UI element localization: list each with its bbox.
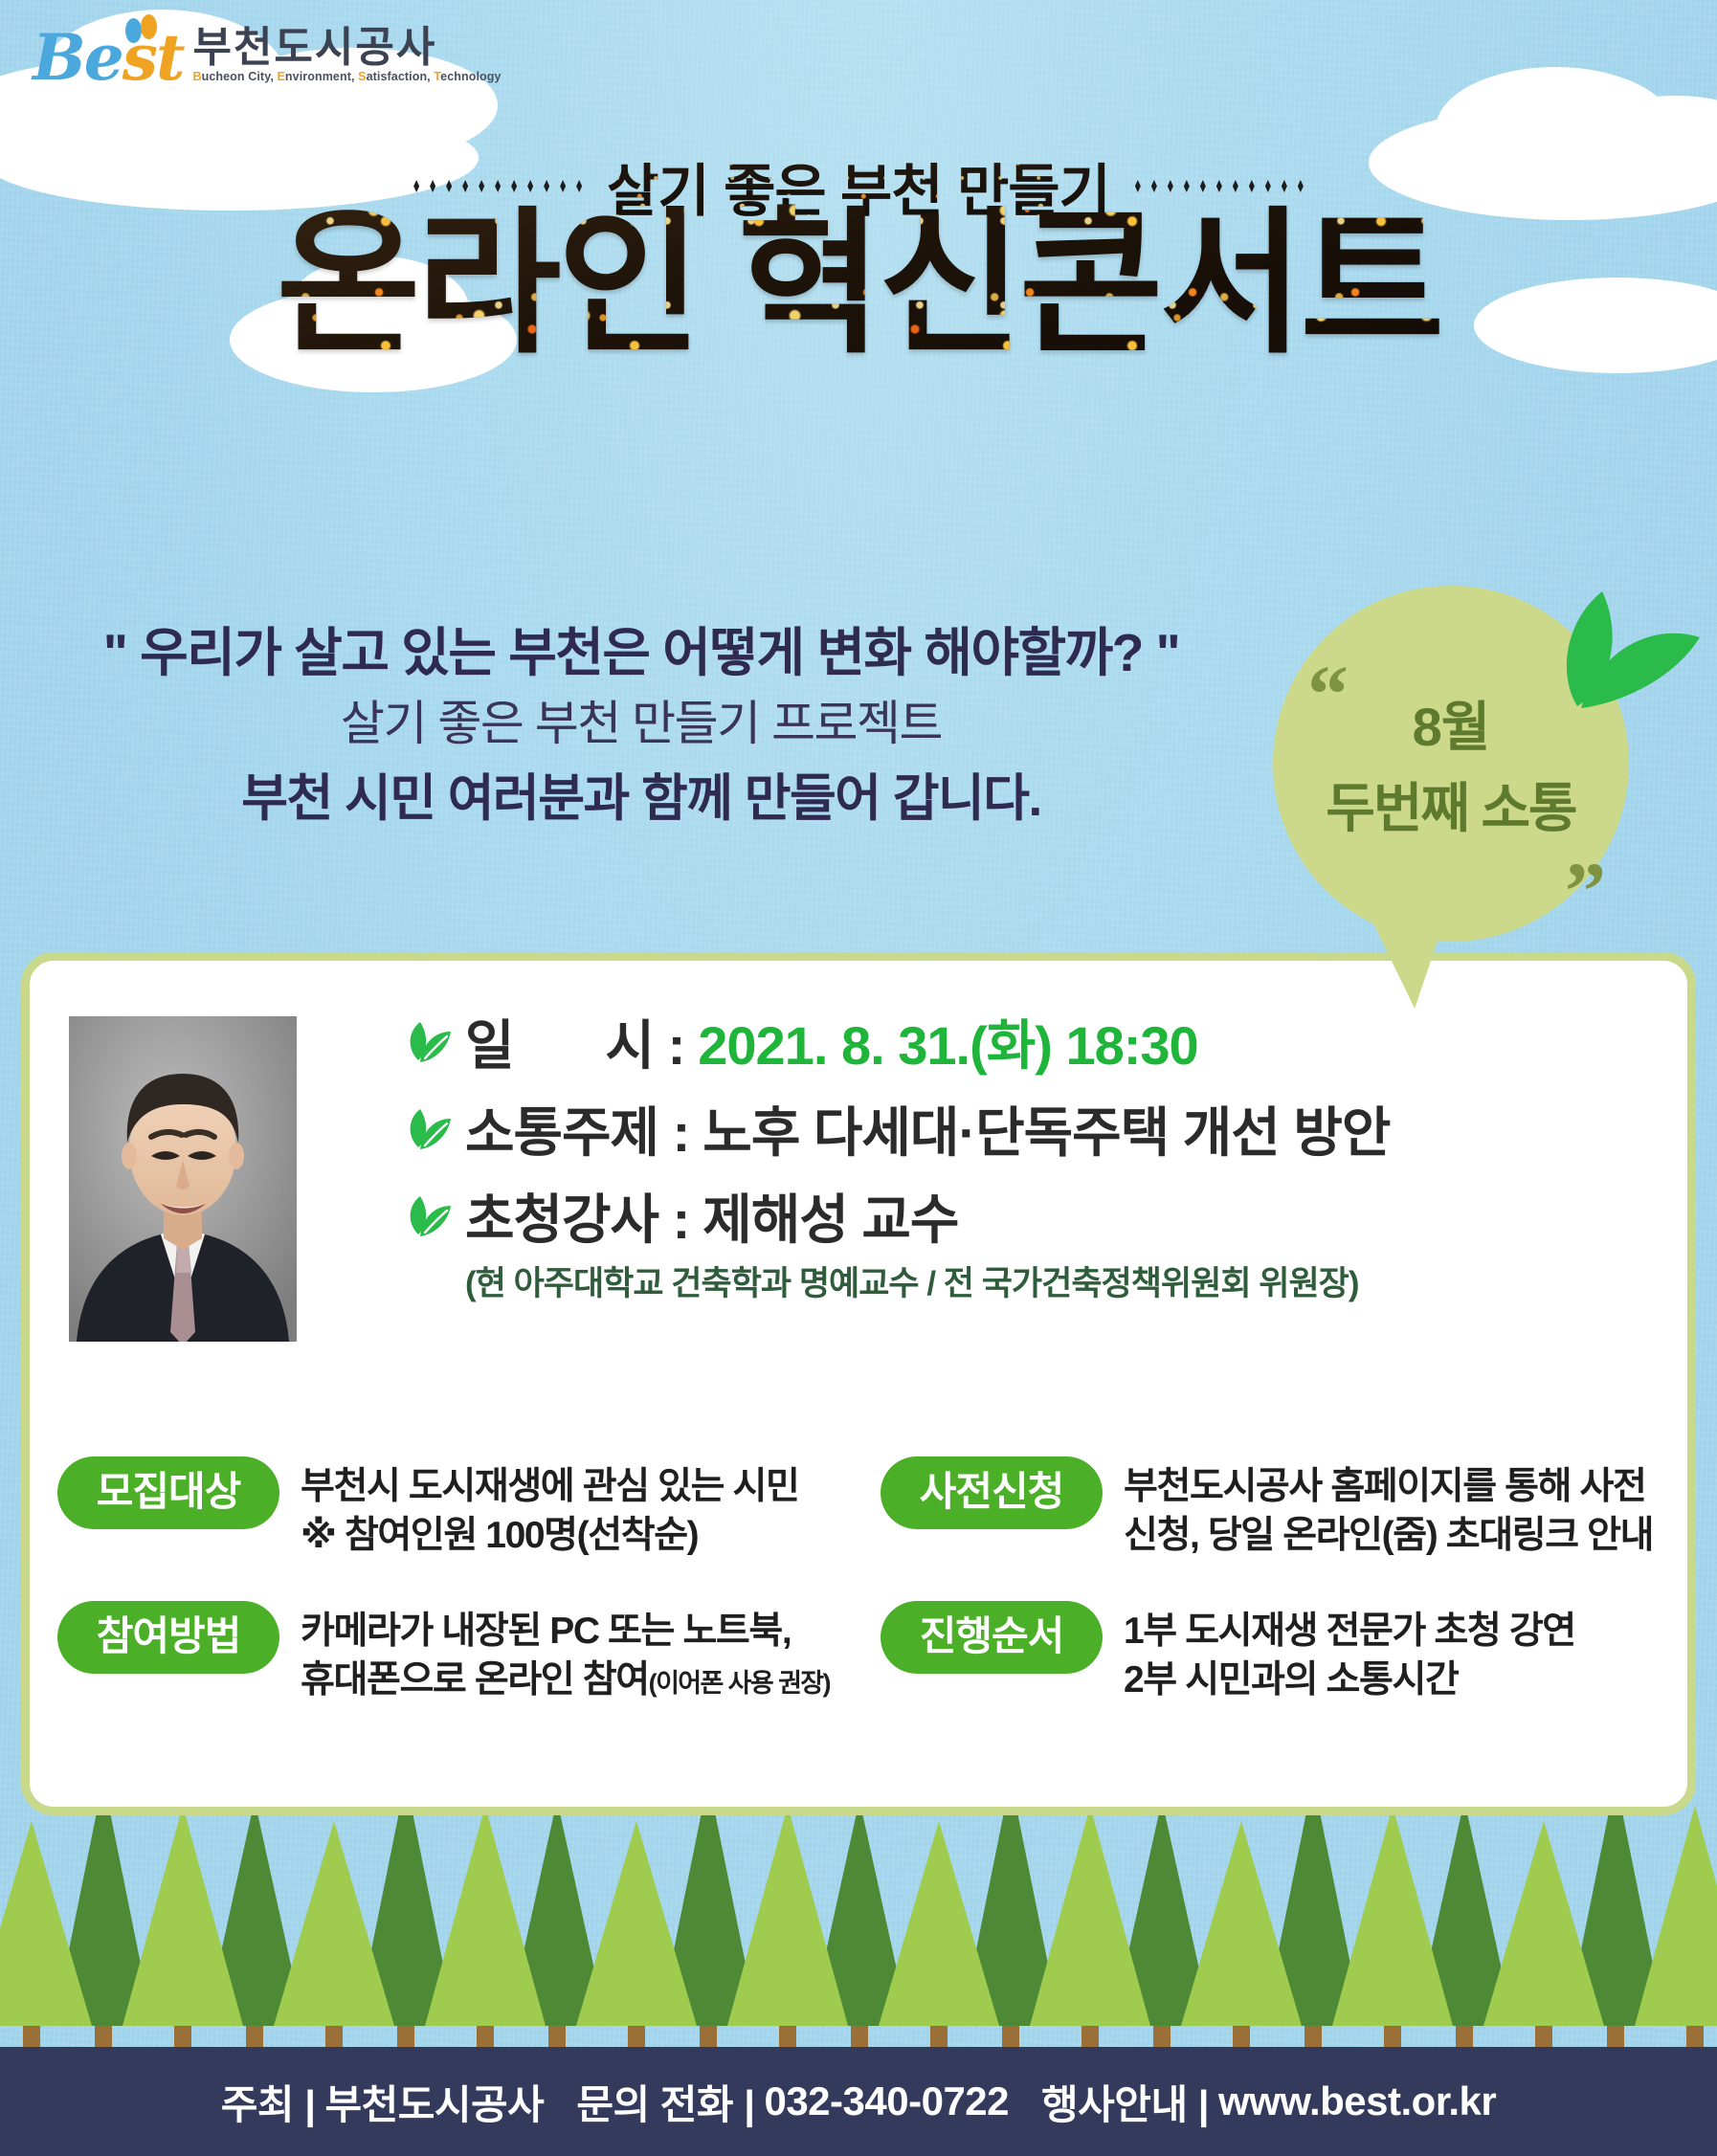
info-line: 카메라가 내장된 PC 또는 노트북, xyxy=(301,1607,830,1656)
info-pill-program: 진행순서 xyxy=(881,1601,1103,1674)
tree-crown xyxy=(576,1821,697,2026)
info-line: 휴대폰으로 온라인 참여(이어폰 사용 권장) xyxy=(301,1656,830,1704)
footer-website: www.best.or.kr xyxy=(1218,2078,1496,2124)
event-details: 일시 : 2021. 8. 31.(화) 18:30 소통주제 : 노후 다세대… xyxy=(402,1003,1390,1305)
info-line: 부천도시공사 홈페이지를 통해 사전 xyxy=(1124,1462,1653,1511)
leaf-decoration-icon xyxy=(1522,584,1704,727)
footer-host-value: 부천도시공사 xyxy=(324,2073,544,2131)
leaf-icon xyxy=(402,1194,452,1238)
info-text-registration: 부천도시공사 홈페이지를 통해 사전 신청, 당일 온라인(줌) 초대링크 안내 xyxy=(1124,1456,1653,1561)
tree-crown xyxy=(0,1821,92,2026)
tree-crown xyxy=(1332,1806,1453,2026)
tree-crown xyxy=(1030,1806,1150,2026)
tree xyxy=(879,1810,999,2047)
footer-text: 주최 | 부천도시공사 문의 전화 | 032-340-0722 행사안내 | … xyxy=(221,2073,1496,2131)
info-box-participation: 참여방법 카메라가 내장된 PC 또는 노트북, 휴대폰으로 온라인 참여(이어… xyxy=(57,1601,881,1705)
logo: Best 부천도시공사 Bucheon City, Environment, S… xyxy=(33,27,502,87)
footer-phone-value: 032-340-0722 xyxy=(764,2078,1009,2124)
leaf-icon xyxy=(402,1020,452,1064)
speaker-credentials: (현 아주대학교 건축학과 명예교수 / 전 국가건축정책위원회 위원장) xyxy=(465,1256,1390,1305)
tree xyxy=(576,1810,697,2047)
detail-value-datetime: 2021. 8. 31.(화) 18:30 xyxy=(698,1003,1197,1080)
tree xyxy=(1483,1810,1604,2047)
bubble-line-2: 두번째 소통 xyxy=(1326,766,1575,843)
detail-row-datetime: 일시 : 2021. 8. 31.(화) 18:30 xyxy=(402,1003,1390,1080)
footer-info-label: 행사안내 | xyxy=(1041,2073,1209,2131)
poster-root: Best 부천도시공사 Bucheon City, Environment, S… xyxy=(0,0,1717,2156)
tree xyxy=(425,1794,546,2047)
logo-dot-blue xyxy=(125,18,142,43)
info-text-target: 부천시 도시재생에 관심 있는 시민 ※ 참여인원 100명(선착순) xyxy=(301,1456,798,1561)
tree xyxy=(1332,1794,1453,2047)
tree xyxy=(1181,1810,1302,2047)
bubble-open-quote-icon: “ xyxy=(1307,670,1349,720)
footer-phone-label: 문의 전화 | xyxy=(576,2073,754,2131)
footer-host-label: 주최 | xyxy=(221,2073,316,2131)
detail-label-datetime: 일시 : xyxy=(465,1003,684,1080)
logo-dot-orange xyxy=(141,14,157,39)
detail-label-topic: 소통주제 : xyxy=(465,1090,689,1167)
info-text-program: 1부 도시재생 전문가 초청 강연 2부 시민과의 소통시간 xyxy=(1124,1601,1575,1705)
portrait-illustration xyxy=(69,1016,297,1342)
tree-crown xyxy=(879,1821,999,2026)
tree-crown xyxy=(1635,1806,1717,2026)
detail-row-topic: 소통주제 : 노후 다세대·단독주택 개선 방안 xyxy=(402,1090,1390,1167)
info-pill-participation: 참여방법 xyxy=(57,1601,279,1674)
quote-block: " 우리가 살고 있는 부천은 어떻게 변화 해야할까? " 살기 좋은 부천 … xyxy=(0,617,1282,834)
info-line: 부천시 도시재생에 관심 있는 시민 xyxy=(301,1462,798,1511)
tree xyxy=(727,1794,848,2047)
bubble-line-1: 8월 xyxy=(1413,684,1490,762)
poster-main-title: 온라인 혁신콘서트 xyxy=(0,191,1717,377)
detail-value-topic: 노후 다세대·단독주택 개선 방안 xyxy=(702,1090,1390,1167)
tree-crown xyxy=(1181,1821,1302,2026)
bubble-close-quote-icon: ” xyxy=(1565,867,1606,917)
detail-row-speaker: 초청강사 : 제해성 교수 xyxy=(402,1177,1390,1255)
logo-tagline: Bucheon City, Environment, Satisfaction,… xyxy=(192,71,501,83)
logo-org-name: 부천도시공사 xyxy=(192,27,501,69)
quote-line-3: 부천 시민 여러분과 함께 만들어 갑니다. xyxy=(0,764,1282,834)
info-line: 신청, 당일 온라인(줌) 초대링크 안내 xyxy=(1124,1511,1653,1560)
tree xyxy=(0,1810,92,2047)
info-box-target: 모집대상 부천시 도시재생에 관심 있는 시민 ※ 참여인원 100명(선착순) xyxy=(57,1456,881,1561)
info-box-grid: 모집대상 부천시 도시재생에 관심 있는 시민 ※ 참여인원 100명(선착순)… xyxy=(57,1456,1665,1705)
speaker-photo xyxy=(69,1016,297,1342)
footer-bar: 주최 | 부천도시공사 문의 전화 | 032-340-0722 행사안내 | … xyxy=(0,2047,1717,2156)
detail-label-speaker: 초청강사 : xyxy=(465,1177,689,1255)
quote-line-2: 살기 좋은 부천 만들기 프로젝트 xyxy=(0,688,1282,760)
quote-line-1: " 우리가 살고 있는 부천은 어떻게 변화 해야할까? " xyxy=(0,617,1282,688)
info-line: ※ 참여인원 100명(선착순) xyxy=(301,1511,798,1560)
info-box-program: 진행순서 1부 도시재생 전문가 초청 강연 2부 시민과의 소통시간 xyxy=(881,1601,1665,1705)
tree xyxy=(123,1794,243,2047)
logo-letter-t: t xyxy=(156,20,184,95)
tree-crown xyxy=(274,1821,394,2026)
info-text-participation: 카메라가 내장된 PC 또는 노트북, 휴대폰으로 온라인 참여(이어폰 사용 … xyxy=(301,1601,830,1705)
info-line-note: (이어폰 사용 권장) xyxy=(649,1669,830,1698)
tree-crown xyxy=(123,1806,243,2026)
detail-value-speaker: 제해성 교수 xyxy=(702,1177,958,1255)
tree xyxy=(1030,1794,1150,2047)
logo-letter-b: B xyxy=(33,20,84,95)
logo-wordmark: Best xyxy=(33,30,183,86)
logo-letter-e: e xyxy=(84,20,123,95)
tree xyxy=(1635,1794,1717,2047)
logo-text-block: 부천도시공사 Bucheon City, Environment, Satisf… xyxy=(192,27,501,87)
tree xyxy=(274,1810,394,2047)
info-box-registration: 사전신청 부천도시공사 홈페이지를 통해 사전 신청, 당일 온라인(줌) 초대… xyxy=(881,1456,1665,1561)
info-line: 1부 도시재생 전문가 초청 강연 xyxy=(1124,1607,1575,1656)
leaf-icon xyxy=(402,1107,452,1151)
tree-crown xyxy=(727,1806,848,2026)
tree-crown xyxy=(1483,1821,1604,2026)
info-pill-target: 모집대상 xyxy=(57,1456,279,1529)
info-line: 2부 시민과의 소통시간 xyxy=(1124,1656,1575,1704)
tree-crown xyxy=(425,1806,546,2026)
info-pill-registration: 사전신청 xyxy=(881,1456,1103,1529)
